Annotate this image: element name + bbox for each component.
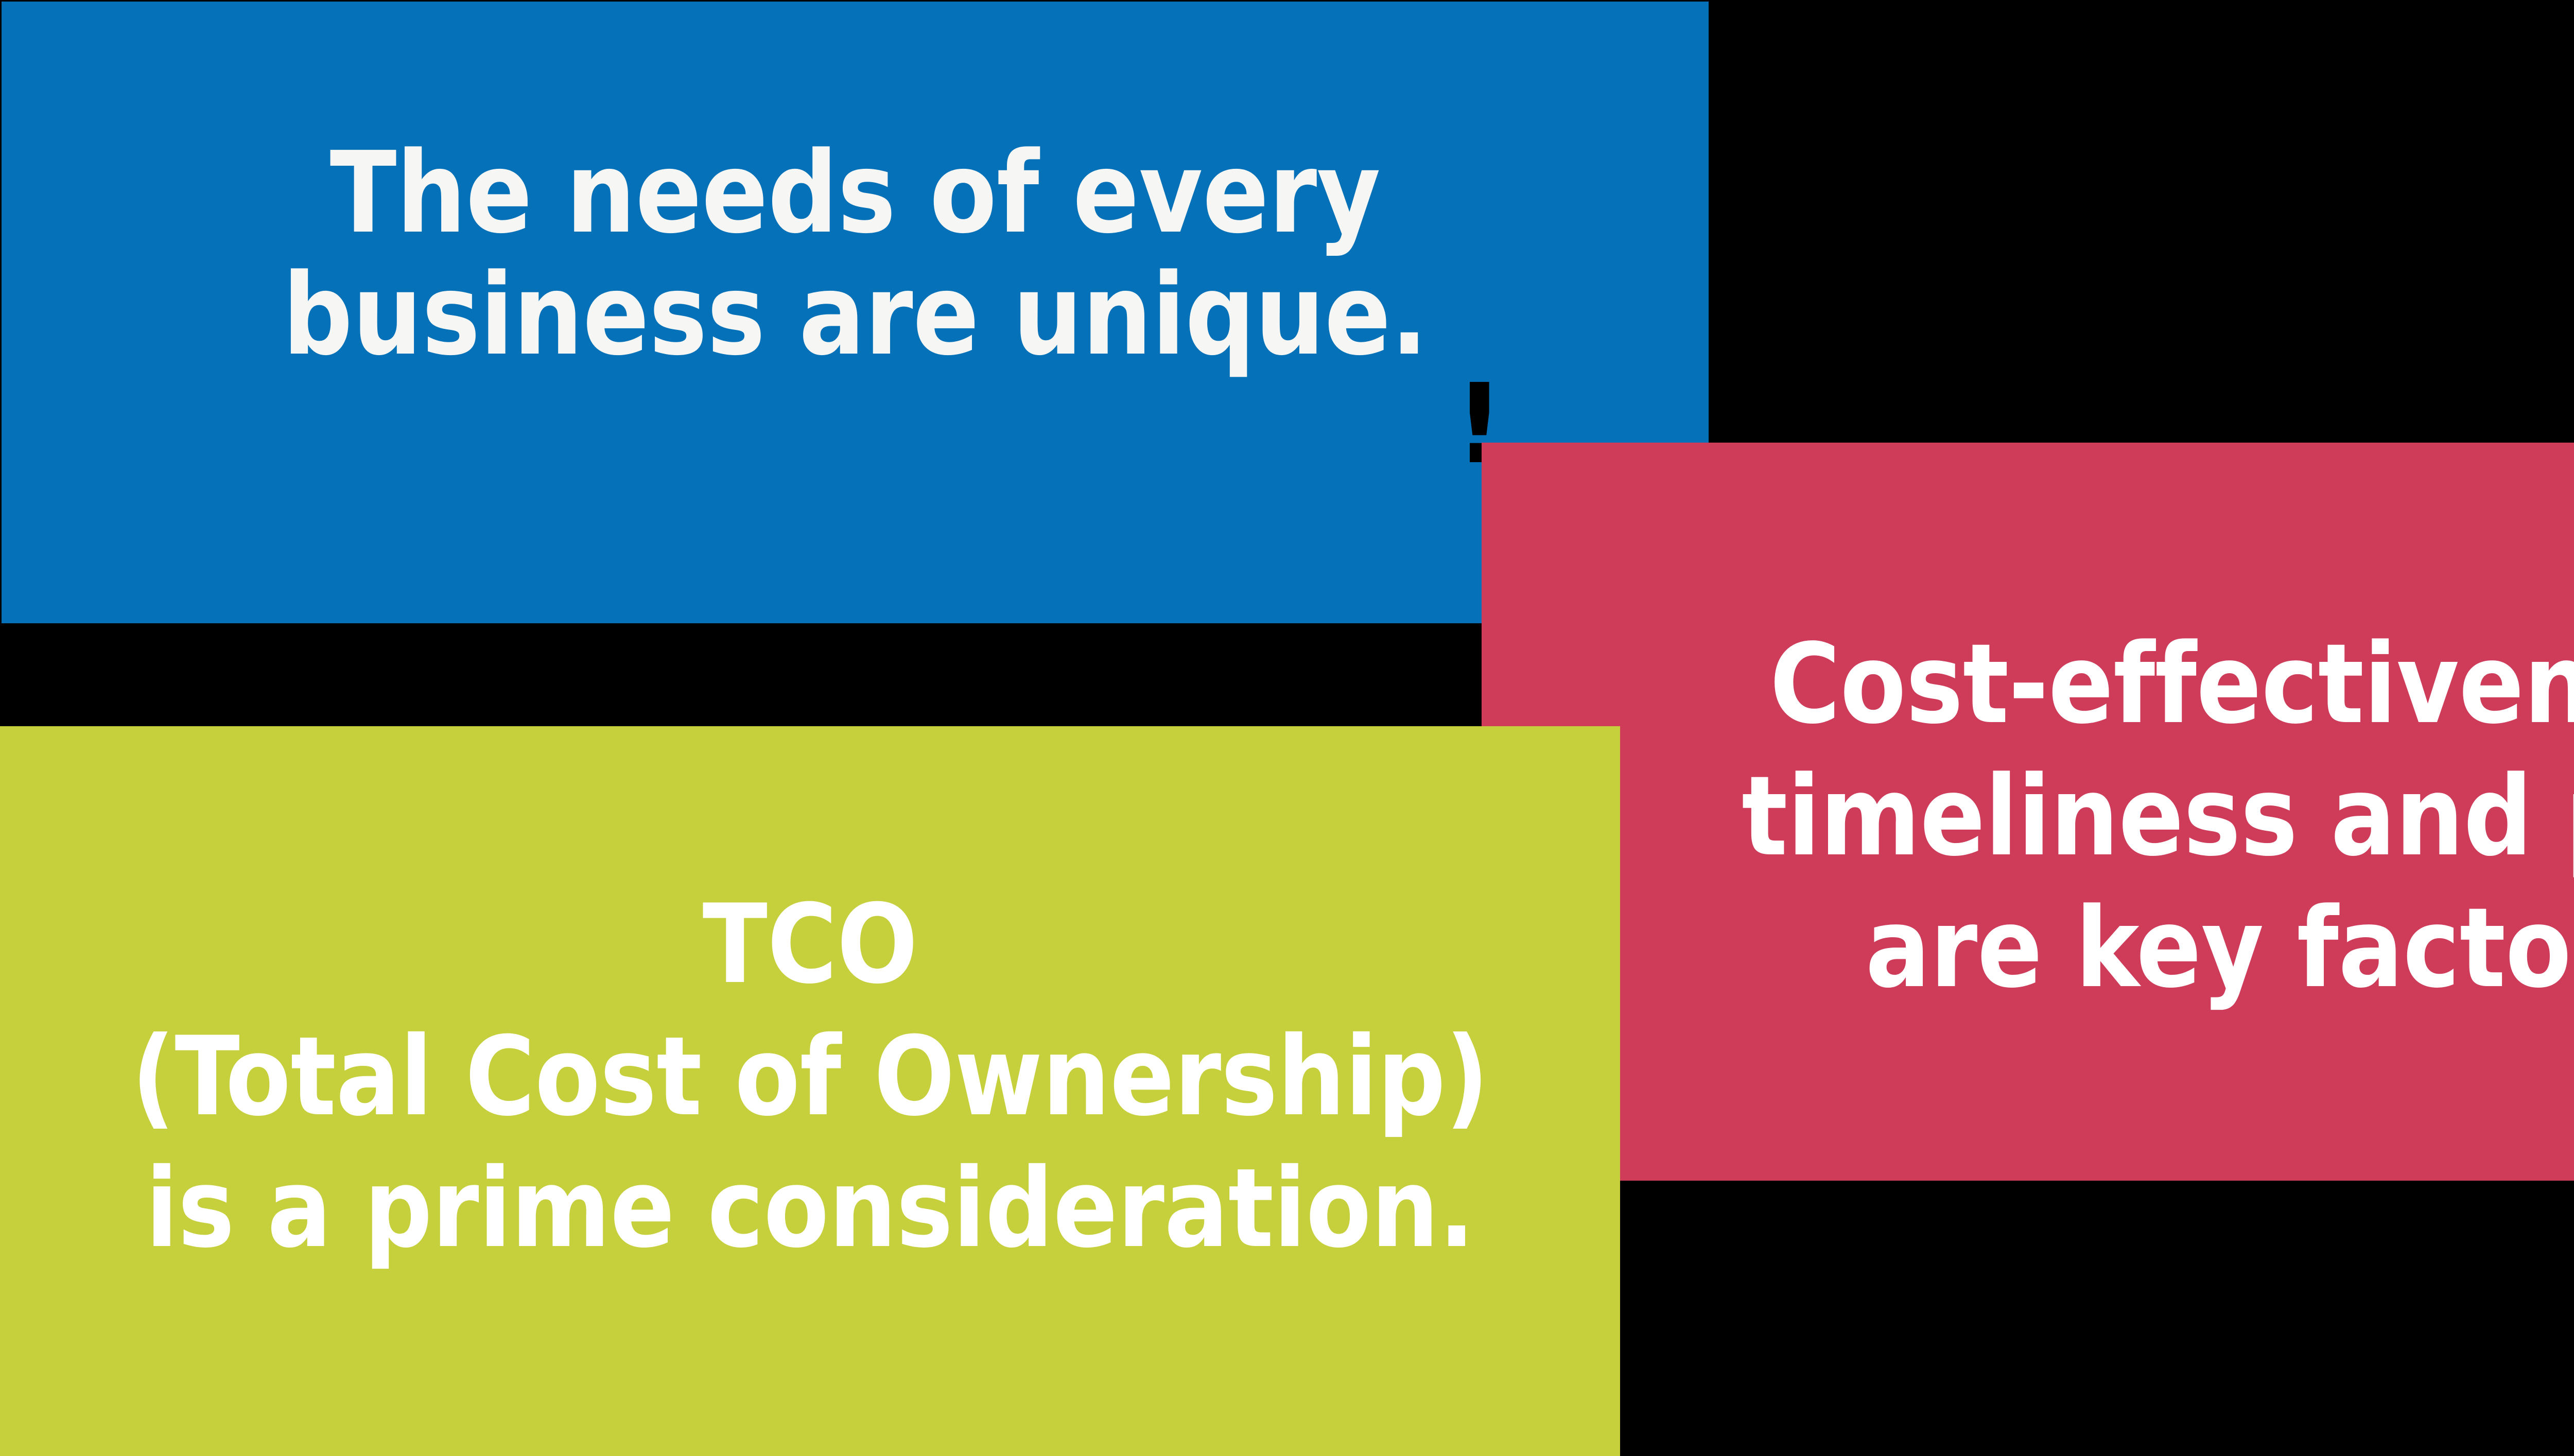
needs-panel[interactable]: The needs of every business are unique. (2, 2, 1709, 623)
cost-factors-panel-line-3: are key factors. (1506, 883, 2574, 1015)
cost-factors-panel-text: Cost-effectiveness, timeliness and price… (1506, 619, 2574, 1015)
needs-panel-line-1: The needs of every (27, 133, 1683, 255)
needs-panel-line-2: business are unique. (27, 255, 1683, 377)
cost-factors-panel-line-1: Cost-effectiveness, (1506, 619, 2574, 751)
needs-panel-text: The needs of every business are unique. (27, 133, 1683, 376)
tco-panel-line-1: TCO (24, 879, 1596, 1011)
tco-panel-text: TCO (Total Cost of Ownership) is a prime… (24, 879, 1596, 1275)
slide-canvas: The needs of every business are unique. … (0, 0, 2574, 1456)
tco-panel[interactable]: TCO (Total Cost of Ownership) is a prime… (0, 726, 1620, 1456)
exclamation-overflow-glyph: ! (1454, 370, 1464, 447)
cost-factors-panel[interactable]: Cost-effectiveness, timeliness and price… (1482, 443, 2574, 1181)
tco-panel-line-2: (Total Cost of Ownership) (24, 1011, 1596, 1143)
cost-factors-panel-line-2: timeliness and price (1506, 751, 2574, 883)
tco-panel-line-3: is a prime consideration. (24, 1143, 1596, 1275)
